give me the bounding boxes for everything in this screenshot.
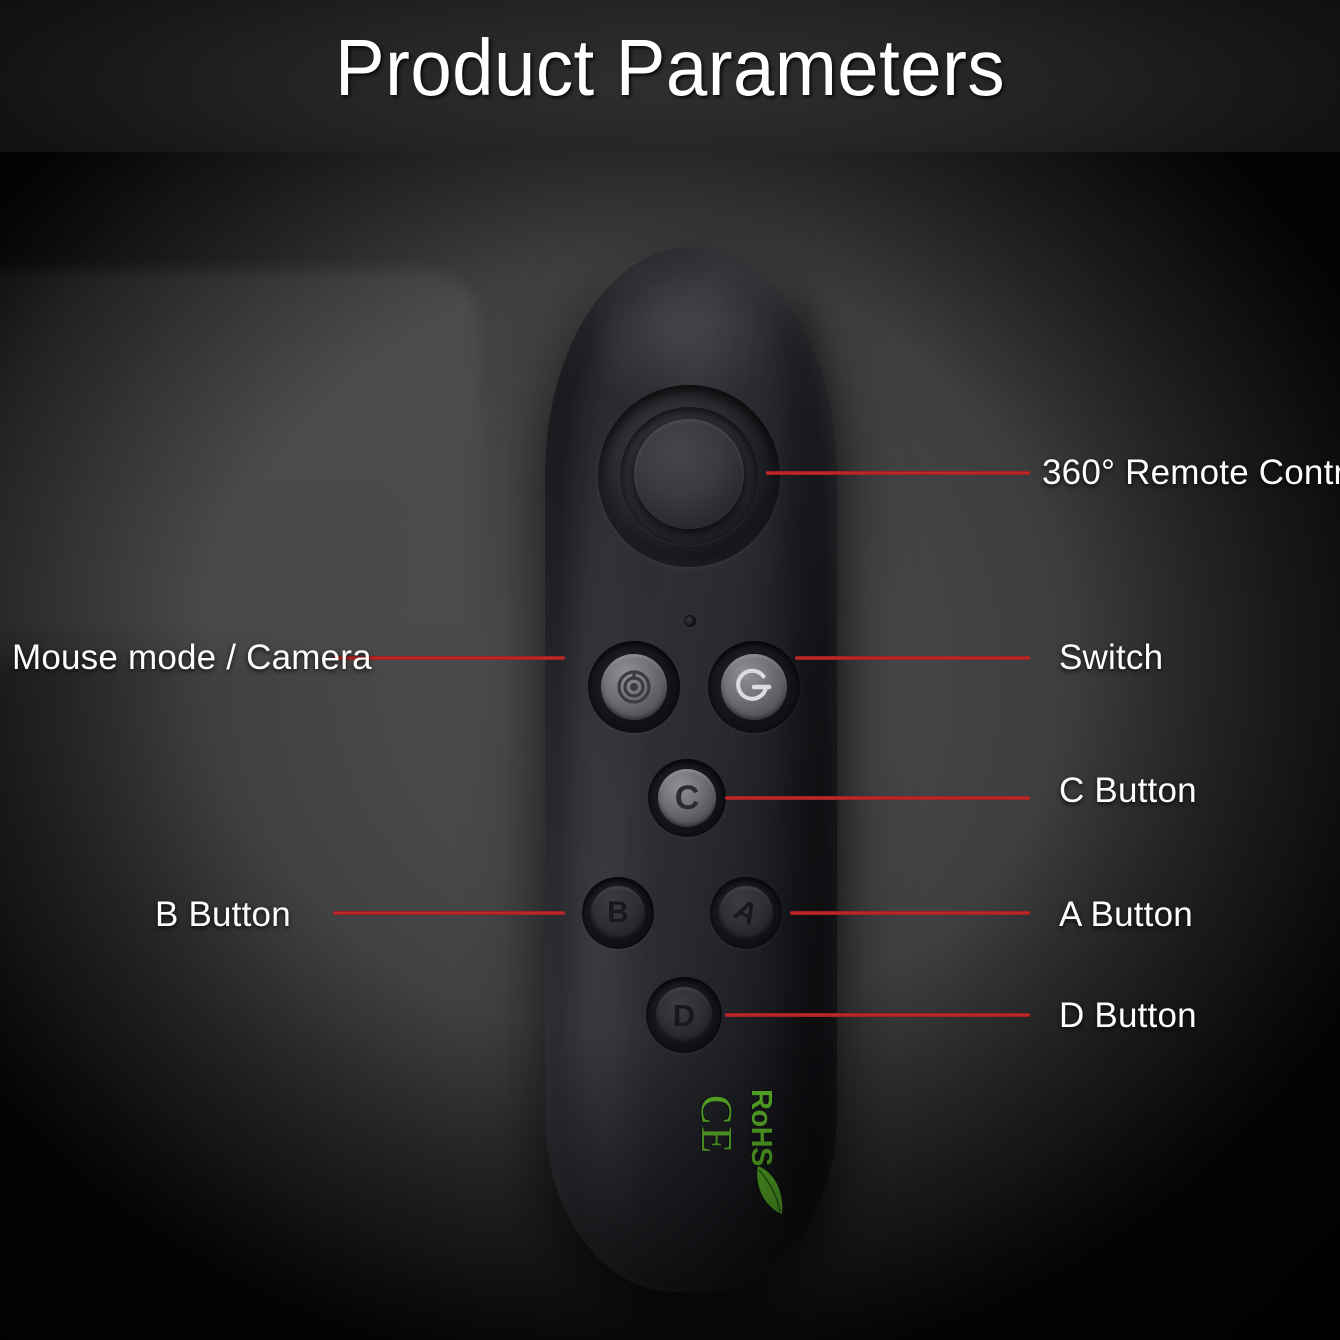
joystick-ring <box>620 407 758 545</box>
product-parameters-diagram: Product Parameters <box>0 0 1340 1340</box>
lead-line-d-button <box>725 1013 1030 1017</box>
mouse-camera-button-cap <box>601 654 667 720</box>
led-indicator-icon <box>684 615 696 627</box>
lead-line-c-button <box>725 796 1030 800</box>
ce-label: CE <box>691 1095 742 1155</box>
d-button-glyph: D <box>673 1000 695 1031</box>
b-button-cap: B <box>591 886 645 940</box>
mouse-camera-icon <box>614 667 654 707</box>
lead-line-b-button <box>333 911 565 915</box>
lead-line-joystick <box>766 471 1030 475</box>
a-button[interactable]: A <box>710 877 782 949</box>
certification-marks: RoHS CE <box>596 1117 786 1203</box>
b-button[interactable]: B <box>582 877 654 949</box>
c-button-glyph: C <box>675 781 700 815</box>
callout-label-b-button: B Button <box>155 895 291 935</box>
callout-label-mouse-camera: Mouse mode / Camera <box>12 638 372 678</box>
rohs-label: RoHS <box>744 1089 777 1166</box>
product-photo-area: C B A D <box>0 152 1340 1340</box>
c-button[interactable]: C <box>648 759 726 837</box>
rohs-mark: RoHS <box>744 1089 784 1216</box>
callout-label-a-button: A Button <box>1059 895 1193 935</box>
power-switch-button-cap <box>721 654 787 720</box>
a-button-glyph: A <box>729 895 762 932</box>
c-button-cap: C <box>658 769 716 827</box>
power-icon <box>733 666 775 708</box>
b-button-glyph: B <box>607 898 629 928</box>
callout-label-joystick: 360° Remote Control <box>1042 453 1340 493</box>
a-button-cap: A <box>719 886 773 940</box>
mouse-camera-button[interactable] <box>588 641 680 733</box>
vr-remote-controller: C B A D <box>540 247 840 1292</box>
background-smudge-lower-left <box>0 482 400 662</box>
joystick-nub[interactable] <box>634 419 744 529</box>
rohs-leaf-icon <box>754 1164 784 1216</box>
lead-line-switch <box>795 656 1030 660</box>
d-button-cap: D <box>656 987 712 1043</box>
page-title: Product Parameters <box>47 22 1293 114</box>
callout-label-d-button: D Button <box>1059 996 1197 1036</box>
joystick-recess[interactable] <box>598 385 780 567</box>
d-button[interactable]: D <box>646 977 722 1053</box>
callout-label-c-button: C Button <box>1059 771 1197 811</box>
callout-label-switch: Switch <box>1059 638 1163 678</box>
header-band: Product Parameters <box>0 0 1340 152</box>
lead-line-a-button <box>790 911 1030 915</box>
power-switch-button[interactable] <box>708 641 800 733</box>
